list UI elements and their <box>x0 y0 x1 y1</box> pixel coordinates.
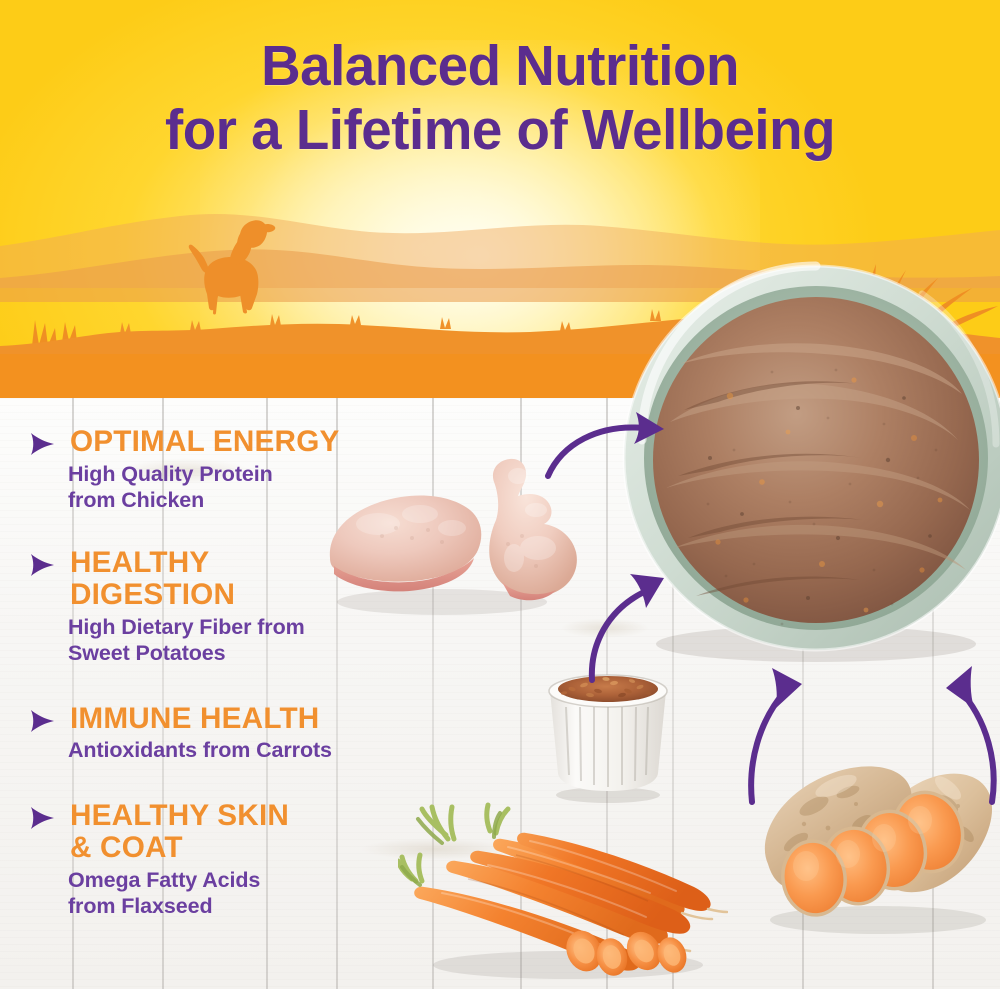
benefit-subtext-line: Antioxidants from Carrots <box>68 738 458 764</box>
dog-silhouette-icon <box>168 212 298 330</box>
headline-line-2: for a Lifetime of Wellbeing <box>20 98 980 162</box>
triangle-bullet-icon <box>28 552 56 578</box>
benefit-item-healthy-skin-coat: HEALTHY SKIN & COAT Omega Fatty Acids fr… <box>28 800 458 919</box>
benefit-item-immune-health: IMMUNE HEALTH Antioxidants from Carrots <box>28 703 458 765</box>
sweet-potatoes-photo <box>752 742 998 942</box>
triangle-bullet-icon <box>28 708 56 734</box>
benefit-subtext-line: Sweet Potatoes <box>68 641 458 667</box>
benefit-subtext: High Dietary Fiber from Sweet Potatoes <box>68 615 458 667</box>
triangle-bullet-icon <box>28 805 56 831</box>
benefit-subtext: Antioxidants from Carrots <box>68 738 458 764</box>
carrots-photo <box>398 795 728 989</box>
headline-line-1: Balanced Nutrition <box>261 34 739 98</box>
infographic-poster: Balanced Nutrition for a Lifetime of Wel… <box>0 0 1000 989</box>
flaxseed-ramekin-photo <box>528 655 688 805</box>
page-title: Balanced Nutrition for a Lifetime of Wel… <box>20 34 980 163</box>
benefit-heading: IMMUNE HEALTH <box>70 703 456 735</box>
raw-chicken-photo <box>322 440 592 620</box>
dog-food-bowl-photo <box>622 252 1000 664</box>
triangle-bullet-icon <box>28 431 56 457</box>
